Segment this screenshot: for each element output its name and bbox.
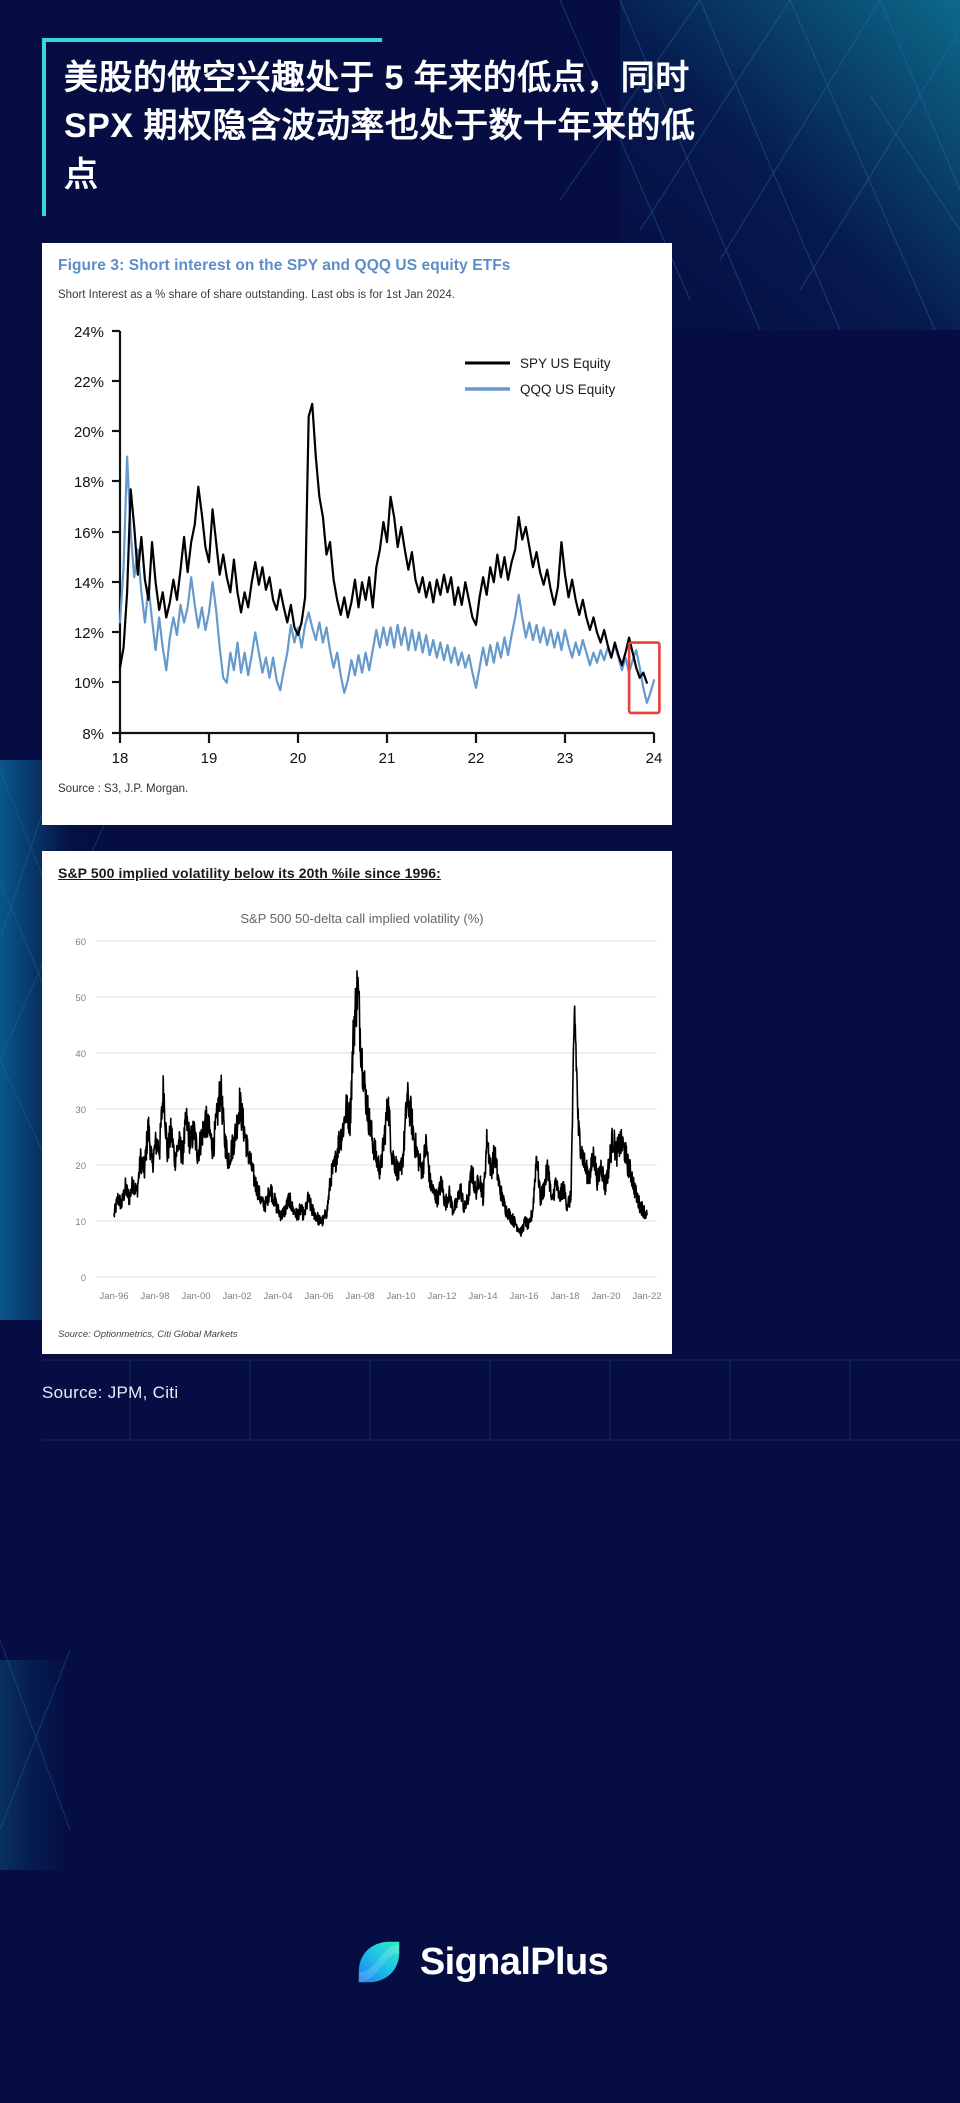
figure-3-subtitle: Short Interest as a % share of share out… — [58, 289, 455, 301]
chart2-xtick-2: Jan-00 — [181, 1291, 210, 1302]
chart2-xtick-7: Jan-10 — [386, 1291, 415, 1302]
chart2-xtick-9: Jan-14 — [468, 1291, 497, 1302]
chart2-ytick-10: 10 — [75, 1217, 86, 1228]
figure-3-source: Source : S3, J.P. Morgan. — [58, 783, 188, 795]
chart2-ytick-60: 60 — [75, 937, 86, 948]
chart1-ytick-14: 14% — [74, 575, 104, 592]
chart1-xtick-23: 23 — [557, 750, 574, 767]
figure-3-card: Figure 3: Short interest on the SPY and … — [42, 243, 672, 825]
chart2-ytick-0: 0 — [81, 1273, 86, 1284]
chart2-xtick-0: Jan-96 — [99, 1291, 128, 1302]
chart2-series-implied-vol — [114, 971, 647, 1236]
chart1-xtick-21: 21 — [379, 750, 396, 767]
chart2-xtick-6: Jan-08 — [345, 1291, 374, 1302]
chart1-ytick-8: 8% — [82, 726, 104, 743]
chart2-ytick-40: 40 — [75, 1049, 86, 1060]
signalplus-logo-icon — [352, 1935, 406, 1989]
chart1-ytick-16: 16% — [74, 525, 104, 542]
chart1-ytick-18: 18% — [74, 474, 104, 491]
figure-3-title: Figure 3: Short interest on the SPY and … — [58, 257, 511, 275]
chart1-x-ticks — [120, 733, 654, 743]
figure-vol-card: S&P 500 implied volatility below its 20t… — [42, 851, 672, 1354]
chart1-legend-label-qqq: QQQ US Equity — [520, 382, 616, 397]
chart1-ytick-24: 24% — [74, 324, 104, 341]
chart1-ytick-12: 12% — [74, 625, 104, 642]
chart2-xtick-4: Jan-04 — [263, 1291, 292, 1302]
footer-source: Source: JPM, Citi — [42, 1383, 178, 1403]
figure-3-chart: 24% 22% 20% 18% 16% 14% 12% 10% 8% 18 19… — [42, 313, 672, 783]
chart2-xtick-12: Jan-20 — [591, 1291, 620, 1302]
chart1-ytick-22: 22% — [74, 374, 104, 391]
chart2-xtick-1: Jan-98 — [140, 1291, 169, 1302]
figure-vol-chart: S&P 500 50-delta call implied volatility… — [42, 893, 672, 1323]
chart2-ytick-30: 30 — [75, 1105, 86, 1116]
chart1-xtick-24: 24 — [646, 750, 663, 767]
chart2-xtick-13: Jan-22 — [632, 1291, 661, 1302]
chart1-x-tick-labels: 18 19 20 21 22 23 24 — [112, 750, 663, 767]
chart2-xtick-11: Jan-18 — [550, 1291, 579, 1302]
chart1-ytick-10: 10% — [74, 675, 104, 692]
figure-vol-source: Source: Optionmetrics, Citi Global Marke… — [58, 1329, 238, 1340]
brand-logo: SignalPlus — [0, 1935, 960, 1989]
chart2-xtick-3: Jan-02 — [222, 1291, 251, 1302]
headline-rule-left — [42, 38, 46, 216]
headline-rule-top — [42, 38, 382, 42]
chart2-y-tick-labels: 60 50 40 30 20 10 0 — [75, 937, 86, 1284]
chart2-xtick-5: Jan-06 — [304, 1291, 333, 1302]
chart1-y-ticks — [112, 331, 120, 733]
chart1-xtick-19: 19 — [201, 750, 218, 767]
chart2-xtick-10: Jan-16 — [509, 1291, 538, 1302]
chart2-x-tick-labels: Jan-96 Jan-98 Jan-00 Jan-02 Jan-04 Jan-0… — [99, 1291, 661, 1302]
figure-vol-title: S&P 500 implied volatility below its 20t… — [58, 865, 441, 881]
chart1-y-tick-labels: 24% 22% 20% 18% 16% 14% 12% 10% 8% — [74, 324, 104, 743]
chart1-xtick-22: 22 — [468, 750, 485, 767]
page-title: 美股的做空兴趣处于 5 年来的低点，同时 SPX 期权隐含波动率也处于数十年来的… — [42, 38, 702, 199]
headline-block: 美股的做空兴趣处于 5 年来的低点，同时 SPX 期权隐含波动率也处于数十年来的… — [42, 38, 702, 199]
chart2-title: S&P 500 50-delta call implied volatility… — [240, 911, 483, 926]
chart1-xtick-20: 20 — [290, 750, 307, 767]
chart1-legend-label-spy: SPY US Equity — [520, 356, 611, 371]
signalplus-logo-text: SignalPlus — [420, 1941, 608, 1984]
chart2-xtick-8: Jan-12 — [427, 1291, 456, 1302]
chart2-ytick-50: 50 — [75, 993, 86, 1004]
chart2-ytick-20: 20 — [75, 1161, 86, 1172]
chart1-legend: SPY US Equity QQQ US Equity — [465, 356, 616, 397]
chart1-xtick-18: 18 — [112, 750, 129, 767]
chart1-ytick-20: 20% — [74, 424, 104, 441]
